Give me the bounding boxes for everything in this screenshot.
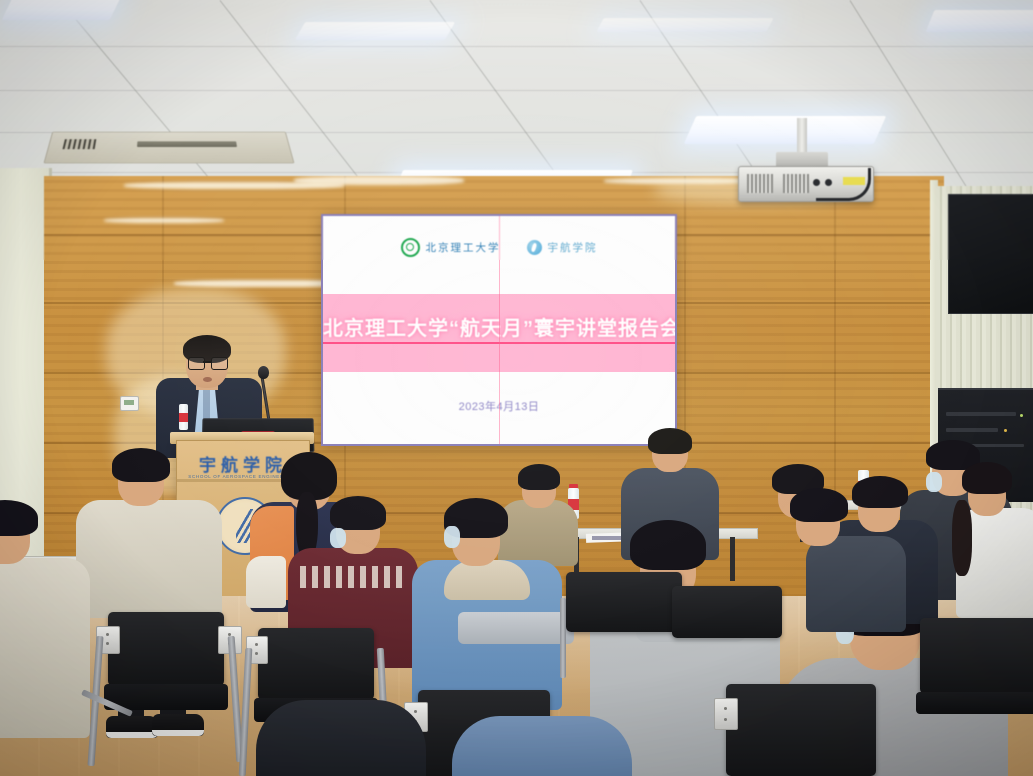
sae-logo-text: 宇航学院: [548, 240, 598, 255]
projector-mount-pole: [797, 118, 807, 156]
table-leg: [730, 537, 735, 581]
ceiling-light-panel: [2, 0, 123, 20]
microphone-head-icon: [258, 366, 269, 379]
ceiling-ac-cassette: [43, 132, 294, 164]
projector-cable: [816, 168, 871, 201]
ceiling-light-panel: [295, 22, 455, 40]
wall-thermostat[interactable]: [120, 396, 139, 411]
screen-seam: [499, 216, 500, 444]
wall-display: [948, 194, 1033, 314]
ceiling: [0, 0, 1033, 205]
speaker-mouth: [203, 377, 212, 382]
bit-logo-text: 北京理工大学: [426, 240, 501, 255]
water-bottle: [179, 404, 188, 430]
bit-logo: 北京理工大学: [401, 238, 501, 257]
ceiling-light-panel: [926, 10, 1033, 32]
ceiling-light-panel: [596, 18, 773, 32]
glasses-icon: [188, 357, 226, 368]
lecture-hall-photo: 北京理工大学 宇航学院 北京理工大学“航天月”寰宇讲堂报告会 2023年4月13…: [0, 0, 1033, 776]
projection-screen: 北京理工大学 宇航学院 北京理工大学“航天月”寰宇讲堂报告会 2023年4月13…: [321, 214, 677, 446]
bit-emblem-icon: [401, 238, 420, 257]
ceiling-light-panel: [684, 116, 886, 144]
sae-logo: 宇航学院: [527, 240, 598, 255]
sae-emblem-icon: [527, 240, 542, 255]
